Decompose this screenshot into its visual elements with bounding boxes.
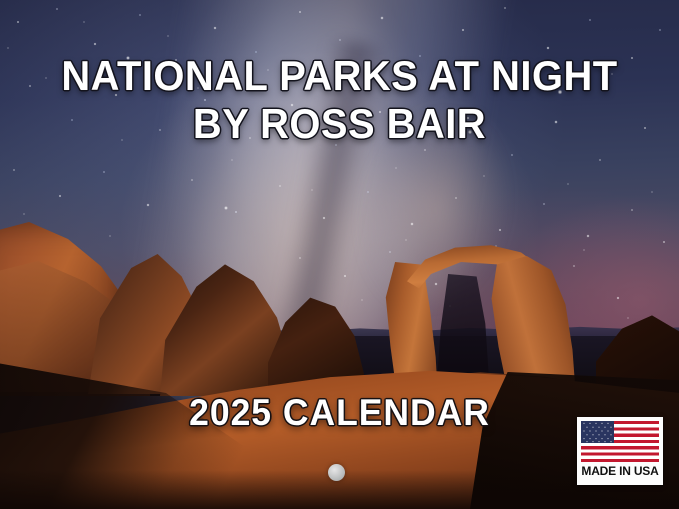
made-in-usa-badge: MADE IN USA: [577, 417, 663, 485]
made-in-usa-label: MADE IN USA: [581, 465, 659, 477]
gray-dot-sticker: [328, 464, 345, 481]
us-flag-icon: [581, 421, 659, 462]
flag-canton: [581, 421, 614, 443]
flag-stars: [581, 421, 614, 443]
calendar-cover: NATIONAL PARKS AT NIGHT BY ROSS BAIR 202…: [0, 0, 679, 509]
